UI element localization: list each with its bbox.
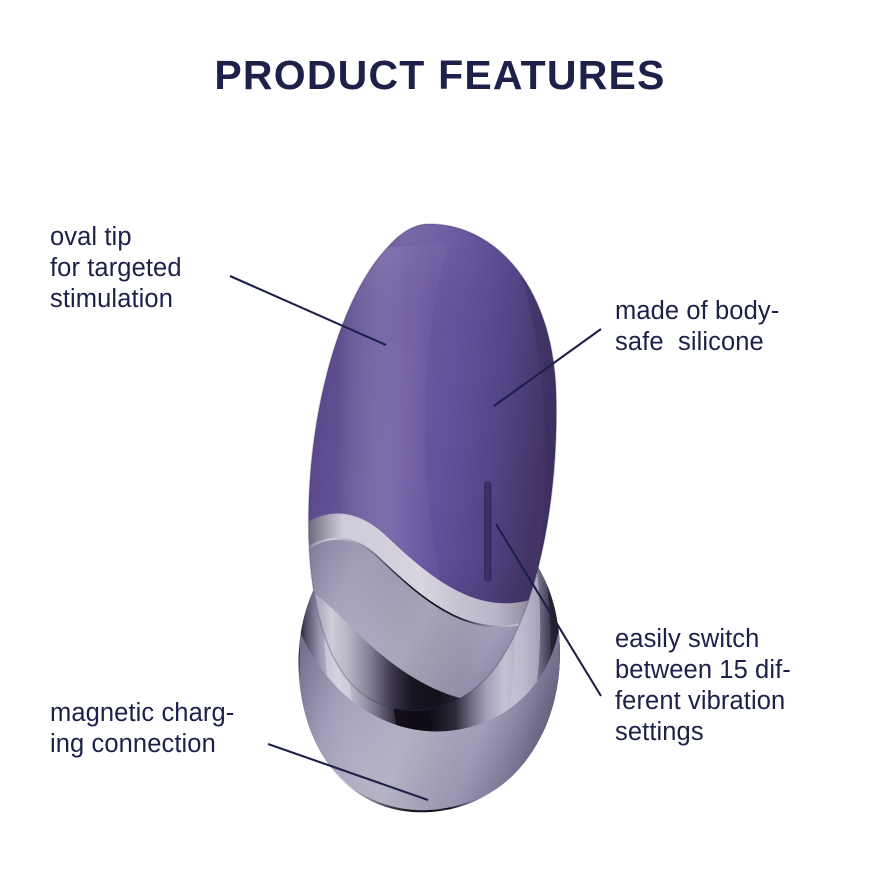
callout-oval-tip: oval tip for targeted stimulation bbox=[50, 222, 182, 315]
infographic-canvas: PRODUCT FEATURES bbox=[0, 0, 880, 880]
callout-body-safe-silicone: made of body- safe silicone bbox=[615, 296, 779, 358]
control-button[interactable] bbox=[484, 481, 492, 582]
callout-magnetic-charging: magnetic charg- ing connection bbox=[50, 698, 234, 760]
callout-vibration-settings: easily switch between 15 dif- ferent vib… bbox=[615, 624, 791, 748]
